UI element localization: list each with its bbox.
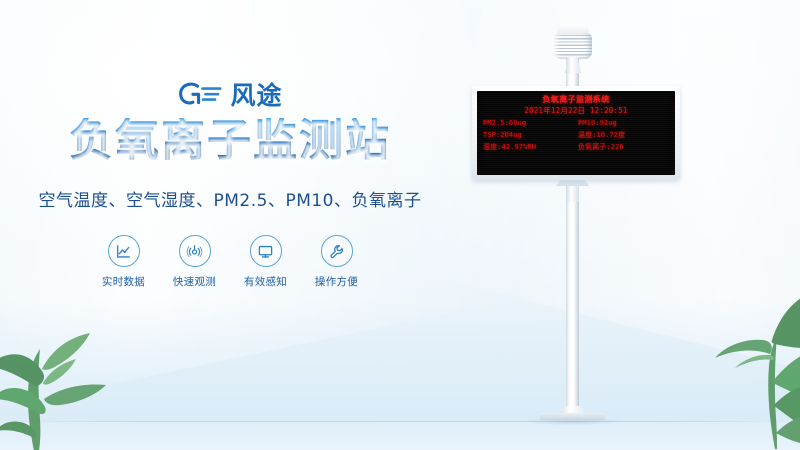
ground-surface xyxy=(0,421,800,450)
feature-list: 实时数据 快速观测 xyxy=(0,235,460,289)
hero-text-panel: 风途 负氧离子监测站 空气温度、空气湿度、PM2.5、PM10、负氧离子 实时数… xyxy=(0,78,460,289)
hero-subtitle: 空气温度、空气湿度、PM2.5、PM10、负氧离子 xyxy=(0,186,460,211)
feature-item-fast-observation: 快速观测 xyxy=(170,235,220,289)
feature-label: 操作方便 xyxy=(312,274,362,289)
brand-logo: 风途 xyxy=(0,78,460,112)
display-mount-post xyxy=(566,176,579,202)
sensor-cap xyxy=(557,24,589,35)
monitor-screen-icon xyxy=(250,235,282,267)
background-light-sheen-secondary xyxy=(417,0,800,389)
line-chart-icon xyxy=(108,235,140,267)
ground-horizon-line xyxy=(0,421,800,422)
led-readings-grid: PM2.5:69ug PM10:92ug TSP:204ug 温度:10.72度… xyxy=(483,118,669,153)
fengtu-g-wind-logo-icon xyxy=(177,81,223,109)
feature-label: 实时数据 xyxy=(99,274,149,289)
pole-base-collar xyxy=(559,406,586,417)
led-reading-tsp: TSP:204ug xyxy=(483,130,574,141)
led-reading-negative-oxygen-ions: 负氧离子:226 xyxy=(578,142,669,153)
led-display-datetime: 2021年12月22日 12:20:51 xyxy=(483,106,669,116)
led-screen: 负氧离子监测系统 2021年12月22日 12:20:51 PM2.5:69ug… xyxy=(477,91,675,175)
led-display-panel: 负氧离子监测系统 2021年12月22日 12:20:51 PM2.5:69ug… xyxy=(472,86,680,180)
sensor-neck xyxy=(565,57,581,73)
pole-base-plate xyxy=(540,413,605,420)
led-display-title: 负氧离子监测系统 xyxy=(483,95,669,105)
feature-item-effective-sensing: 有效感知 xyxy=(241,235,291,289)
feature-item-easy-operation: 操作方便 xyxy=(312,235,362,289)
led-reading-pm25: PM2.5:69ug xyxy=(483,118,574,129)
led-reading-temperature: 温度:10.72度 xyxy=(578,130,669,141)
feature-label: 快速观测 xyxy=(170,274,220,289)
feature-item-realtime-data: 实时数据 xyxy=(99,235,149,289)
mounting-pole-icon xyxy=(566,58,579,418)
sensor-louver-shield xyxy=(554,33,592,59)
led-reading-humidity: 湿度:42.97%RH xyxy=(483,142,574,153)
promo-banner: 风途 负氧离子监测站 空气温度、空气湿度、PM2.5、PM10、负氧离子 实时数… xyxy=(0,0,800,450)
display-mount-bracket xyxy=(556,172,589,186)
radiation-shield-sensor-icon xyxy=(546,24,600,72)
brand-name: 风途 xyxy=(230,83,282,108)
led-reading-pm10: PM10:92ug xyxy=(578,118,669,129)
pole-base-flange-icon xyxy=(540,406,605,422)
wrench-icon xyxy=(321,235,353,267)
feature-label: 有效感知 xyxy=(241,274,291,289)
page-title: 负氧离子监测站 xyxy=(0,118,460,164)
radar-sensor-icon xyxy=(179,235,211,267)
